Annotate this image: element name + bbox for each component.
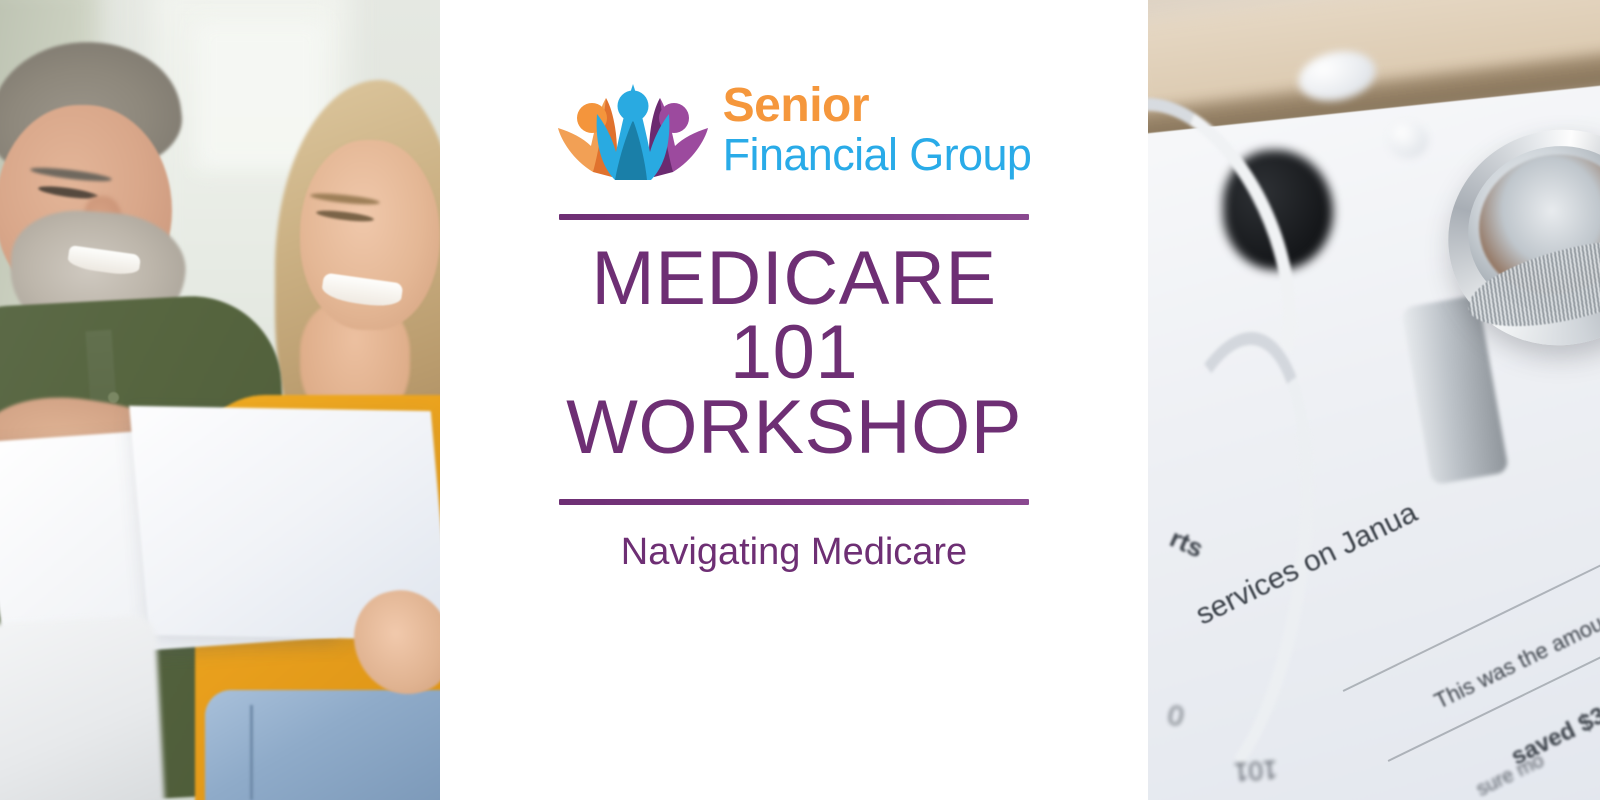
- page-subtitle: Navigating Medicare: [621, 531, 967, 574]
- page-title: MEDICARE 101 WORKSHOP: [566, 242, 1022, 465]
- logo-line-senior: Senior: [723, 82, 1032, 130]
- three-people-logo-icon: [557, 80, 709, 180]
- woman-jeans: [205, 690, 440, 800]
- logo-wordmark: Senior Financial Group: [723, 82, 1032, 179]
- senior-financial-group-logo: Senior Financial Group: [557, 78, 1032, 182]
- title-line-1: MEDICARE: [566, 242, 1022, 316]
- divider-rule-top: [559, 214, 1029, 220]
- laptop-foreground: [0, 615, 165, 800]
- medicare-workshop-banner: Senior Financial Group MEDICARE 101 WORK…: [0, 0, 1600, 800]
- center-text-panel: Senior Financial Group MEDICARE 101 WORK…: [440, 0, 1148, 800]
- photo-stethoscope-on-statement: rts services on Janua This was the amoun…: [1148, 0, 1600, 800]
- title-line-3: WORKSHOP: [566, 391, 1022, 465]
- jeans-seam: [250, 705, 253, 800]
- divider-rule-bottom: [559, 499, 1029, 505]
- title-line-2: 101: [566, 316, 1022, 390]
- photo-couple-reviewing-documents: [0, 0, 440, 800]
- shirt-button: [108, 392, 119, 403]
- highlight-blur-2: [1388, 122, 1428, 158]
- logo-line-financial-group: Financial Group: [723, 132, 1032, 177]
